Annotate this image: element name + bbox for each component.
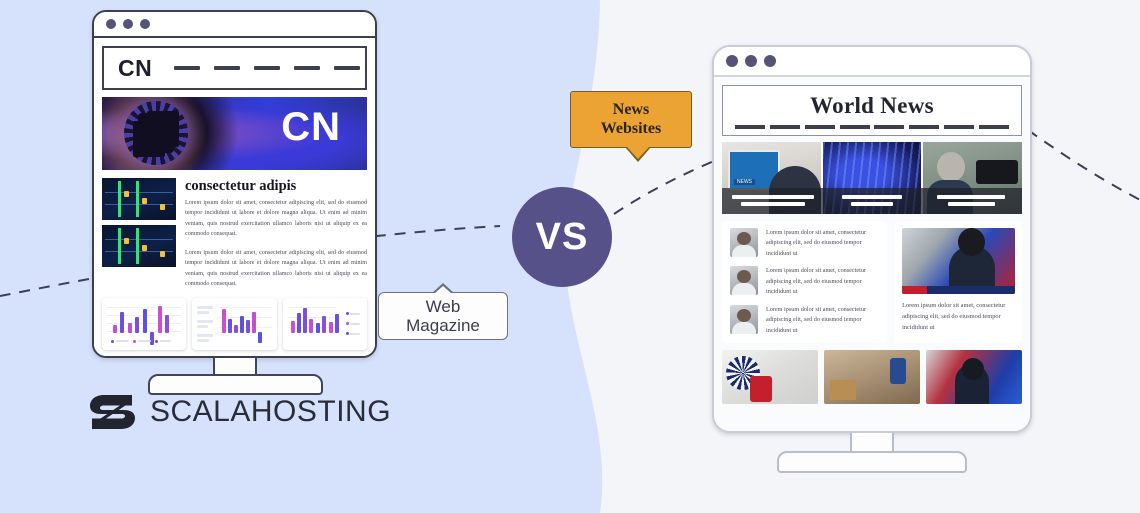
news-websites-line-2: Websites	[601, 120, 661, 137]
hero-caption-2	[823, 195, 920, 206]
news-nav-placeholder	[733, 125, 1011, 129]
monitor-stand-neck-right	[850, 433, 894, 451]
news-websites-callout[interactable]: News Websites	[570, 91, 692, 148]
news-article-list: Lorem ipsum dolor sit amet, consectetur …	[722, 221, 887, 344]
news-website-screen: World News	[712, 45, 1032, 433]
article-thumbnail	[730, 266, 758, 295]
article-excerpt: Lorem ipsum dolor sit amet, consectetur …	[766, 305, 879, 337]
news-masthead: World News	[722, 85, 1022, 136]
list-item[interactable]: Lorem ipsum dolor sit amet, consectetur …	[730, 266, 879, 298]
photo-news-anchor[interactable]	[926, 350, 1022, 404]
article-block: consectetur adipis Lorem ipsum dolor sit…	[102, 178, 367, 290]
hero-caption-1	[724, 195, 821, 206]
news-websites-label: News Websites	[601, 101, 661, 139]
news-content-row: Lorem ipsum dolor sit amet, consectetur …	[722, 221, 1022, 344]
web-magazine-screen: CN CN	[92, 10, 377, 358]
news-nav-link-7[interactable]	[944, 125, 974, 129]
hero-banner[interactable]: CN	[102, 97, 367, 170]
featured-article-card[interactable]: Lorem ipsum dolor sit amet, consectetur …	[895, 221, 1022, 344]
hero-caption-3	[923, 195, 1020, 206]
photo-warehouse-workers[interactable]	[824, 350, 920, 404]
monitor-stand-neck-left	[213, 358, 257, 374]
window-dot-green-icon[interactable]	[140, 19, 150, 29]
article-text: consectetur adipis Lorem ipsum dolor sit…	[185, 178, 367, 290]
nav-link-3[interactable]	[254, 66, 280, 70]
nav-link-2[interactable]	[214, 66, 240, 70]
chart-card-dual-bar[interactable]	[283, 298, 367, 350]
news-nav-link-6[interactable]	[909, 125, 939, 129]
article-paragraph-1: Lorem ipsum dolor sit amet, consectetur …	[185, 198, 367, 240]
site-logo-text[interactable]: CN	[118, 55, 152, 82]
news-nav-link-3[interactable]	[805, 125, 835, 129]
scalahosting-logo[interactable]: SCALAHOSTING	[88, 391, 391, 433]
article-thumbnail	[730, 228, 758, 257]
list-item[interactable]: Lorem ipsum dolor sit amet, consectetur …	[730, 305, 879, 337]
browser-titlebar-left	[94, 12, 375, 38]
chart-card-sidebar-bar[interactable]	[192, 298, 276, 350]
vs-badge: VS	[512, 187, 612, 287]
window-dot-red-icon[interactable]	[726, 55, 738, 67]
article-thumbnail	[730, 305, 758, 334]
mini-plot-3	[288, 303, 362, 345]
cameraman-head-shape	[937, 152, 965, 182]
news-nav-link-2[interactable]	[770, 125, 800, 129]
news-photo-row	[722, 350, 1022, 404]
infographic-stage: CN CN	[0, 0, 1140, 513]
vs-label: VS	[536, 216, 589, 259]
news-nav-link-5[interactable]	[874, 125, 904, 129]
chart-card-grouped-bar[interactable]	[102, 298, 186, 350]
logo-wordmark: SCALAHOSTING	[150, 395, 391, 429]
web-magazine-page: CN CN	[94, 38, 375, 356]
mini-plot-2	[197, 303, 271, 345]
window-dot-yellow-icon[interactable]	[123, 19, 133, 29]
window-dot-green-icon[interactable]	[764, 55, 776, 67]
window-dot-red-icon[interactable]	[106, 19, 116, 29]
web-magazine-label: Web Magazine	[406, 297, 480, 335]
news-hero-row	[722, 142, 1022, 214]
mini-plot-1	[107, 303, 181, 345]
crypto-coin-graphic-icon	[124, 101, 188, 165]
chart-card-row	[102, 298, 367, 350]
nav-link-4[interactable]	[294, 66, 320, 70]
article-excerpt: Lorem ipsum dolor sit amet, consectetur …	[766, 266, 879, 298]
news-nav-link-8[interactable]	[979, 125, 1009, 129]
article-excerpt: Lorem ipsum dolor sit amet, consectetur …	[766, 228, 879, 260]
news-nav-link-1[interactable]	[735, 125, 765, 129]
web-magazine-line-2: Magazine	[406, 316, 480, 335]
trading-chart-thumb-2[interactable]	[102, 225, 176, 267]
news-ticker-bar	[902, 286, 1015, 294]
nav-menu-placeholder	[174, 66, 360, 70]
news-nav-link-4[interactable]	[840, 125, 870, 129]
article-thumbnails	[102, 178, 176, 290]
hero-caption-overlay	[722, 188, 1022, 214]
video-camera-icon	[976, 160, 1018, 184]
news-website-page: World News	[714, 77, 1030, 431]
web-magazine-line-1: Web	[426, 297, 461, 316]
window-dot-yellow-icon[interactable]	[745, 55, 757, 67]
web-magazine-callout[interactable]: Web Magazine	[378, 292, 508, 340]
list-item[interactable]: Lorem ipsum dolor sit amet, consectetur …	[730, 228, 879, 260]
featured-caption: Lorem ipsum dolor sit amet, consectetur …	[902, 300, 1015, 333]
nav-link-1[interactable]	[174, 66, 200, 70]
photo-sports-gear[interactable]	[722, 350, 818, 404]
monitor-stand-base-right	[777, 451, 967, 473]
scala-s-icon	[88, 391, 138, 433]
hero-headline: CN	[281, 107, 341, 147]
right-monitor: World News	[712, 45, 1032, 433]
browser-titlebar-right	[714, 47, 1030, 77]
news-websites-line-1: News	[613, 101, 649, 118]
left-monitor: CN CN	[92, 10, 377, 358]
featured-image-news-anchor	[902, 228, 1015, 294]
news-site-title[interactable]: World News	[733, 93, 1011, 119]
article-title[interactable]: consectetur adipis	[185, 178, 367, 195]
site-navbar: CN	[102, 46, 367, 90]
trading-chart-thumb-1[interactable]	[102, 178, 176, 220]
article-paragraph-2: Lorem ipsum dolor sit amet, consectetur …	[185, 248, 367, 290]
nav-link-5[interactable]	[334, 66, 360, 70]
